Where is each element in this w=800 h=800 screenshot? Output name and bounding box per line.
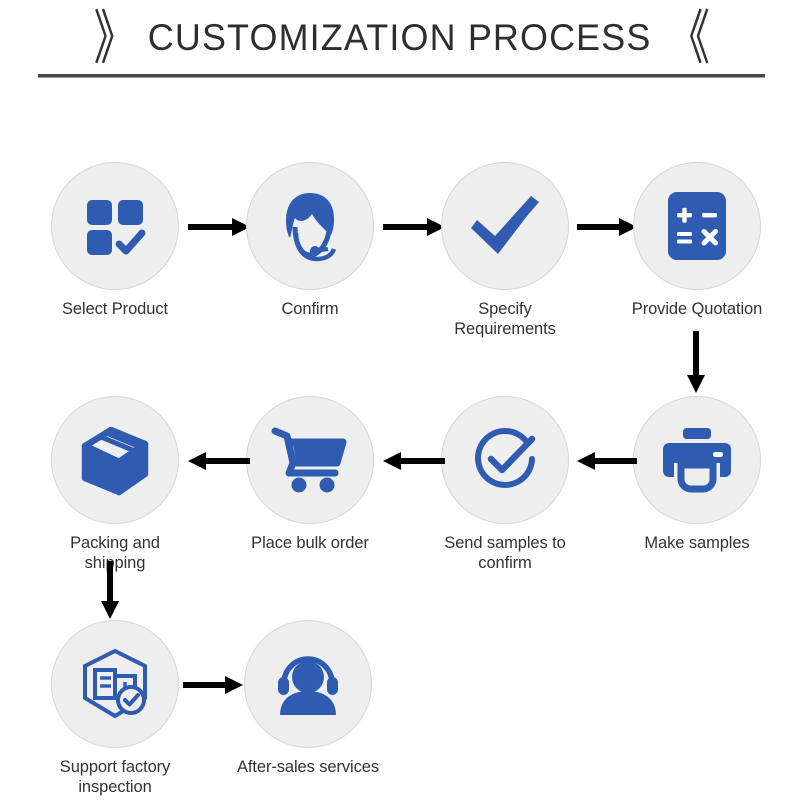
connector-arrow-down	[683, 331, 709, 393]
calculator-icon	[662, 188, 732, 264]
package-box-icon	[77, 422, 153, 498]
page-header: 》 CUSTOMIZATION PROCESS 《	[0, 0, 800, 90]
step-label: Specify Requirements	[430, 299, 580, 339]
step-label: Select Product	[40, 299, 190, 319]
step-label: Provide Quotation	[622, 299, 772, 319]
step-node-provide-quotation[interactable]: Provide Quotation	[622, 162, 772, 319]
step-node-place-bulk-order[interactable]: Place bulk order	[235, 396, 385, 553]
step-icon-circle	[441, 396, 569, 524]
grid-check-icon	[79, 190, 151, 262]
connector-arrow-left	[188, 448, 250, 474]
step-label: Send samples to confirm	[430, 533, 580, 573]
step-node-specify-requirements[interactable]: Specify Requirements	[430, 162, 580, 339]
step-label: Confirm	[235, 299, 385, 319]
page-title: CUSTOMIZATION PROCESS	[148, 17, 652, 59]
check-mark-icon	[465, 186, 545, 266]
double-chevron-right-icon: 》	[94, 9, 133, 68]
step-icon-circle	[51, 620, 179, 748]
support-person-icon	[270, 649, 346, 719]
step-icon-circle	[633, 162, 761, 290]
step-label: Make samples	[622, 533, 772, 553]
step-icon-circle	[51, 396, 179, 524]
step-icon-circle	[633, 396, 761, 524]
step-icon-circle	[441, 162, 569, 290]
headset-agent-icon	[271, 187, 349, 265]
step-node-support-factory-inspection[interactable]: Support factory inspection	[40, 620, 190, 797]
step-icon-circle	[244, 620, 372, 748]
step-node-packing-and-shipping[interactable]: Packing and shipping	[40, 396, 190, 573]
shopping-cart-icon	[271, 425, 349, 495]
step-node-select-product[interactable]: Select Product	[40, 162, 190, 319]
step-node-make-samples[interactable]: Make samples	[622, 396, 772, 553]
step-icon-circle	[246, 162, 374, 290]
step-node-send-samples-to-confirm[interactable]: Send samples to confirm	[430, 396, 580, 573]
printer-icon	[659, 425, 735, 495]
double-chevron-left-icon: 《	[667, 9, 706, 68]
step-label: Support factory inspection	[40, 757, 190, 797]
step-icon-circle	[246, 396, 374, 524]
step-node-after-sales-services[interactable]: After-sales services	[233, 620, 383, 777]
step-icon-circle	[51, 162, 179, 290]
factory-check-icon	[77, 646, 153, 722]
title-row: 》 CUSTOMIZATION PROCESS 《	[0, 8, 800, 68]
step-label: After-sales services	[233, 757, 383, 777]
connector-arrow-down	[97, 561, 123, 619]
connector-arrow-left	[577, 448, 637, 474]
check-circle-icon	[466, 421, 544, 499]
title-divider	[38, 74, 765, 78]
step-node-confirm[interactable]: Confirm	[235, 162, 385, 319]
connector-arrow-left	[383, 448, 445, 474]
step-label: Place bulk order	[235, 533, 385, 553]
